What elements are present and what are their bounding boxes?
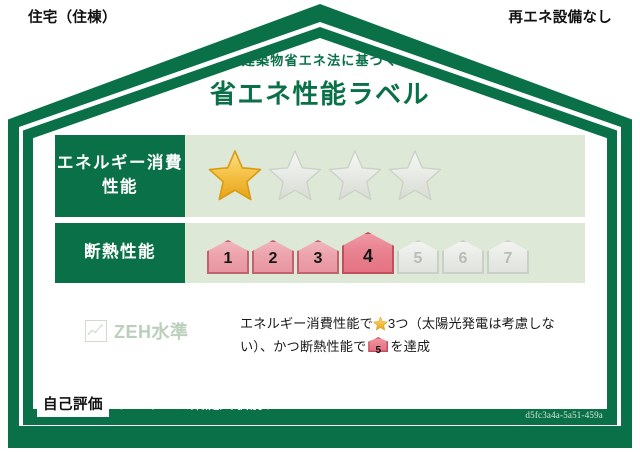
headline: 建築物省エネ法に基づく 省エネ性能ラベル <box>0 50 640 111</box>
star-empty-4 <box>387 148 445 204</box>
inline-grade-badge: 5 <box>368 337 388 352</box>
insulation-grade-4-current: 4 <box>342 232 394 274</box>
chart-icon <box>85 320 107 342</box>
star-empty-2 <box>267 148 325 204</box>
insulation-grade-5: 5 <box>397 240 439 274</box>
insulation-grade-2-value: 2 <box>269 251 278 274</box>
insulation-grade-5-value: 5 <box>414 251 423 274</box>
insulation-grade-scale: 1 2 3 4 <box>207 232 529 274</box>
star-rating <box>207 148 445 204</box>
footer-left: 自己評価 プレサンス東淀川駅前プローシェ <box>37 390 337 417</box>
energy-performance-label: 住宅（住棟） 再エネ設備なし 建築物省エネ法に基づく 省エネ性能ラベル エネルギ… <box>0 0 640 452</box>
insulation-grade-4-value: 4 <box>363 247 373 274</box>
insulation-grade-3-value: 3 <box>314 251 323 274</box>
performance-rows: エネルギー消費性能 <box>55 135 585 289</box>
insulation-grade-7: 7 <box>487 240 529 274</box>
building-type-tab: 住宅（住棟） <box>18 0 127 32</box>
zeh-standard-row: ZEH水準 エネルギー消費性能で3つ（太陽光発電は考慮しない）、かつ断熱性能で5… <box>55 312 585 358</box>
zeh-desc-part2: 3つ（太陽光発電 <box>388 316 488 331</box>
renewable-energy-label: 再エネ設備なし <box>508 6 612 27</box>
insulation-grade-6-value: 6 <box>459 251 468 274</box>
footer-right: 評価日 2025年9月19日 d5fc3a4a-5a51-459a <box>453 387 603 420</box>
renewable-energy-tab: 再エネ設備なし <box>498 0 622 32</box>
inline-star-icon <box>373 315 388 330</box>
insulation-grade-7-value: 7 <box>504 251 513 274</box>
zeh-desc-part4: を達成 <box>390 339 430 354</box>
self-evaluation-badge: 自己評価 <box>37 390 109 417</box>
energy-consumption-row: エネルギー消費性能 <box>55 135 585 217</box>
energy-consumption-label-text: エネルギー消費性能 <box>55 152 185 200</box>
evaluation-date: 評価日 2025年9月19日 <box>453 387 603 408</box>
energy-consumption-label: エネルギー消費性能 <box>55 135 185 217</box>
insulation-grade-6: 6 <box>442 240 484 274</box>
zeh-description: エネルギー消費性能で3つ（太陽光発電は考慮しない）、かつ断熱性能で5を達成 <box>240 312 585 358</box>
building-type-label: 住宅（住棟） <box>28 6 117 27</box>
insulation-body: 1 2 3 4 <box>185 223 585 283</box>
headline-title: 省エネ性能ラベル <box>0 74 640 111</box>
insulation-label: 断熱性能 <box>55 223 185 283</box>
footer: 自己評価 プレサンス東淀川駅前プローシェ 評価日 2025年9月19日 d5fc… <box>23 381 617 425</box>
insulation-grade-1: 1 <box>207 240 249 274</box>
insulation-grade-3: 3 <box>297 240 339 274</box>
zeh-desc-part1: エネルギー消費性能で <box>240 316 373 331</box>
insulation-label-text: 断熱性能 <box>84 241 156 265</box>
evaluation-id: d5fc3a4a-5a51-459a <box>453 410 603 420</box>
energy-consumption-body <box>185 135 585 217</box>
star-empty-3 <box>327 148 385 204</box>
inline-grade-value: 5 <box>375 345 381 356</box>
insulation-row: 断熱性能 1 2 3 <box>55 223 585 283</box>
star-filled-1 <box>207 148 265 204</box>
headline-subtitle: 建築物省エネ法に基づく <box>0 50 640 69</box>
insulation-grade-1-value: 1 <box>224 251 233 274</box>
zeh-badge-label: ZEH水準 <box>114 318 189 344</box>
building-name: プレサンス東淀川駅前プローシェ <box>117 393 337 414</box>
zeh-badge: ZEH水準 <box>55 312 240 344</box>
insulation-grade-2: 2 <box>252 240 294 274</box>
